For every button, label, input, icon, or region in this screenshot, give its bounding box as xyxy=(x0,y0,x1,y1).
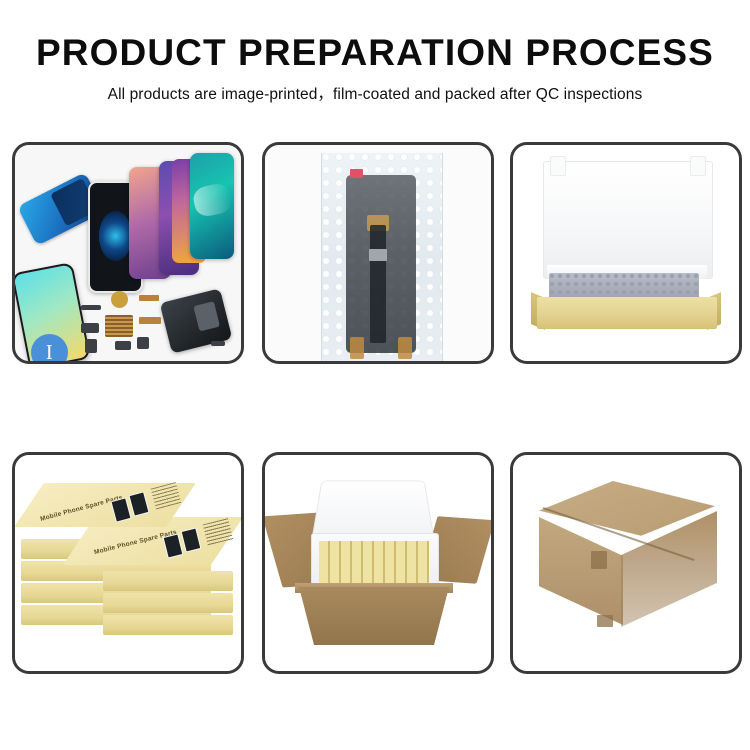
lcd-tab-left xyxy=(350,337,364,359)
lcd-driver-chip xyxy=(369,249,387,261)
sealed-carton-tape-lower xyxy=(597,615,613,627)
phones-and-parts-scene xyxy=(15,145,241,361)
foam-cooler-lid xyxy=(312,481,435,539)
step-1-photo xyxy=(15,145,241,361)
step-badge-1: I xyxy=(31,334,68,364)
step-5-photo xyxy=(265,455,491,671)
step-6-photo xyxy=(513,455,739,671)
lcd-tab-right xyxy=(398,337,412,359)
box-stack: Mobile Phone Spare Parts Mobile Phone Sp… xyxy=(15,455,241,671)
bubble-wrap-bag xyxy=(321,153,443,361)
page-subtitle: All products are image-printed，film-coat… xyxy=(0,73,750,104)
step-card-6: VI xyxy=(510,452,742,674)
spare-part-camera-ring xyxy=(137,337,149,349)
teal-gradient-phone xyxy=(190,153,234,259)
product-preparation-infographic: PRODUCT PREPARATION PROCESS All products… xyxy=(0,0,750,750)
step-card-3: III xyxy=(510,142,742,364)
packed-yellow-boxes xyxy=(319,541,429,583)
spare-part-flex-cable-a xyxy=(139,295,159,301)
header: PRODUCT PREPARATION PROCESS All products… xyxy=(0,0,750,104)
spare-part-screws xyxy=(211,341,225,346)
step-card-5: V xyxy=(262,452,494,674)
spare-part-bar xyxy=(81,305,101,310)
process-steps-grid: I II xyxy=(10,140,740,740)
step-card-4: Mobile Phone Spare Parts Mobile Phone Sp… xyxy=(12,452,244,674)
sealed-carton-left-face xyxy=(539,517,623,625)
spare-part-button-set xyxy=(115,341,131,350)
step-card-1: I xyxy=(12,142,244,364)
sealed-carton-tape-upper xyxy=(591,551,607,569)
spare-part-speaker-coil xyxy=(111,291,128,308)
open-inner-box-scene xyxy=(513,145,739,361)
step-card-2: II xyxy=(262,142,494,364)
inner-box-front-panel xyxy=(537,297,717,329)
open-shipping-carton-scene xyxy=(265,455,491,671)
retail-box-layer-right-4 xyxy=(103,615,233,635)
sealed-carton-scene xyxy=(513,455,739,671)
retail-box-spec-lines-2 xyxy=(203,518,234,546)
retail-box-layer-right-3 xyxy=(103,593,233,613)
spare-part-bracket-a xyxy=(81,323,99,333)
step-4-photo: Mobile Phone Spare Parts Mobile Phone Sp… xyxy=(15,455,241,671)
pink-qc-label xyxy=(350,169,363,178)
lcd-flex-cable xyxy=(370,225,386,343)
spare-part-bracket-b xyxy=(85,339,97,353)
inner-box-foam-lid xyxy=(543,161,713,279)
step-3-photo xyxy=(513,145,739,361)
retail-box-layer-right-2 xyxy=(103,571,233,591)
spare-part-flex-cable-b xyxy=(139,317,161,324)
step-2-photo xyxy=(265,145,491,361)
bubble-wrapped-screen-scene xyxy=(265,145,491,361)
stacked-retail-boxes-scene: Mobile Phone Spare Parts Mobile Phone Sp… xyxy=(15,455,241,671)
carton-front-panel xyxy=(299,587,449,645)
page-title: PRODUCT PREPARATION PROCESS xyxy=(0,0,750,73)
spare-part-connector-grid xyxy=(105,315,133,337)
